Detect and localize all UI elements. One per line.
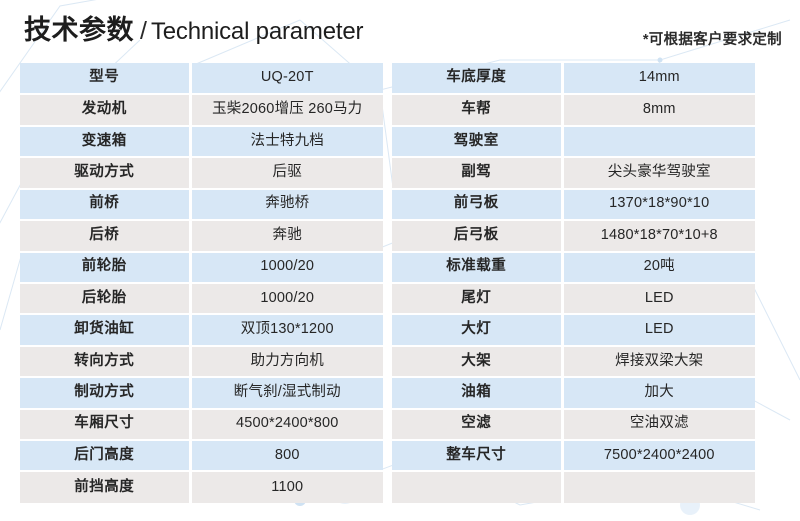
spec-value-cell: 加大 [562,377,755,408]
spec-tables-container: 型号UQ-20T发动机玉柴2060增压 260马力变速箱法士特九档驱动方式后驱前… [0,63,800,503]
table-row: 型号UQ-20T [20,63,383,94]
table-row: 大架焊接双梁大架 [392,346,755,377]
spec-value-cell: 1480*18*70*10+8 [562,220,755,251]
spec-label-cell: 变速箱 [20,126,190,157]
spec-label-cell: 大架 [392,346,562,377]
spec-label-cell: 整车尺寸 [392,440,562,471]
spec-value-cell: 14mm [562,63,755,94]
table-row: 后门高度800 [20,440,383,471]
spec-value-cell: 1000/20 [190,252,383,283]
page-header: 技术参数/Technical parameter *可根据客户要求定制 [0,0,800,62]
spec-value-cell [562,471,755,503]
spec-label-cell [392,471,562,503]
spec-value-cell: 玉柴2060增压 260马力 [190,94,383,125]
spec-table-right-body: 车底厚度14mm车帮8mm驾驶室副驾尖头豪华驾驶室前弓板1370*18*90*1… [392,63,755,503]
table-row: 发动机玉柴2060增压 260马力 [20,94,383,125]
spec-value-cell: 焊接双梁大架 [562,346,755,377]
spec-value-cell: 空油双滤 [562,409,755,440]
table-row: 变速箱法士特九档 [20,126,383,157]
spec-label-cell: 制动方式 [20,377,190,408]
spec-value-cell: 4500*2400*800 [190,409,383,440]
spec-value-cell: 奔驰 [190,220,383,251]
table-row: 车底厚度14mm [392,63,755,94]
spec-value-cell: 20吨 [562,252,755,283]
spec-label-cell: 型号 [20,63,190,94]
spec-label-cell: 车帮 [392,94,562,125]
spec-table-left: 型号UQ-20T发动机玉柴2060增压 260马力变速箱法士特九档驱动方式后驱前… [20,63,383,503]
table-row: 整车尺寸7500*2400*2400 [392,440,755,471]
page-title-separator: / [140,17,147,45]
table-row: 后弓板1480*18*70*10+8 [392,220,755,251]
spec-value-cell: LED [562,314,755,345]
spec-label-cell: 驾驶室 [392,126,562,157]
spec-value-cell: 1000/20 [190,283,383,314]
spec-table-right: 车底厚度14mm车帮8mm驾驶室副驾尖头豪华驾驶室前弓板1370*18*90*1… [392,63,755,503]
page-title-english: Technical parameter [151,18,363,45]
table-row: 车厢尺寸4500*2400*800 [20,409,383,440]
spec-value-cell: 1370*18*90*10 [562,189,755,220]
spec-value-cell: 1100 [190,471,383,503]
customization-note: *可根据客户要求定制 [643,28,782,49]
spec-label-cell: 后轮胎 [20,283,190,314]
spec-value-cell: LED [562,283,755,314]
spec-label-cell: 前轮胎 [20,252,190,283]
spec-label-cell: 标准载重 [392,252,562,283]
spec-label-cell: 油箱 [392,377,562,408]
spec-label-cell: 后门高度 [20,440,190,471]
spec-value-cell: 尖头豪华驾驶室 [562,157,755,188]
table-row: 后桥奔驰 [20,220,383,251]
table-row: 尾灯LED [392,283,755,314]
spec-label-cell: 前桥 [20,189,190,220]
spec-label-cell: 驱动方式 [20,157,190,188]
spec-label-cell: 车厢尺寸 [20,409,190,440]
spec-label-cell: 大灯 [392,314,562,345]
spec-label-cell: 副驾 [392,157,562,188]
table-row: 空滤空油双滤 [392,409,755,440]
spec-value-cell: 断气刹/湿式制动 [190,377,383,408]
spec-label-cell: 后弓板 [392,220,562,251]
spec-value-cell: 7500*2400*2400 [562,440,755,471]
spec-value-cell: UQ-20T [190,63,383,94]
spec-value-cell: 800 [190,440,383,471]
spec-value-cell: 法士特九档 [190,126,383,157]
table-row: 大灯LED [392,314,755,345]
spec-value-cell: 助力方向机 [190,346,383,377]
spec-label-cell: 发动机 [20,94,190,125]
table-row: 驱动方式后驱 [20,157,383,188]
table-row: 副驾尖头豪华驾驶室 [392,157,755,188]
spec-label-cell: 前弓板 [392,189,562,220]
spec-label-cell: 后桥 [20,220,190,251]
spec-value-cell: 8mm [562,94,755,125]
table-row: 驾驶室 [392,126,755,157]
table-row: 前弓板1370*18*90*10 [392,189,755,220]
table-row: 转向方式助力方向机 [20,346,383,377]
spec-table-left-body: 型号UQ-20T发动机玉柴2060增压 260马力变速箱法士特九档驱动方式后驱前… [20,63,383,503]
table-row: 卸货油缸双顶130*1200 [20,314,383,345]
table-row [392,471,755,503]
spec-label-cell: 转向方式 [20,346,190,377]
spec-label-cell: 尾灯 [392,283,562,314]
table-row: 制动方式断气刹/湿式制动 [20,377,383,408]
table-row: 后轮胎1000/20 [20,283,383,314]
spec-value-cell: 奔驰桥 [190,189,383,220]
table-row: 标准载重20吨 [392,252,755,283]
page-title-chinese: 技术参数 [24,15,134,45]
spec-label-cell: 空滤 [392,409,562,440]
page-title: 技术参数/Technical parameter [24,17,363,44]
table-row: 车帮8mm [392,94,755,125]
spec-label-cell: 前挡高度 [20,471,190,503]
spec-value-cell: 后驱 [190,157,383,188]
table-row: 前挡高度1100 [20,471,383,503]
table-row: 前轮胎1000/20 [20,252,383,283]
table-row: 前桥奔驰桥 [20,189,383,220]
table-row: 油箱加大 [392,377,755,408]
spec-value-cell [562,126,755,157]
spec-label-cell: 车底厚度 [392,63,562,94]
spec-value-cell: 双顶130*1200 [190,314,383,345]
spec-label-cell: 卸货油缸 [20,314,190,345]
